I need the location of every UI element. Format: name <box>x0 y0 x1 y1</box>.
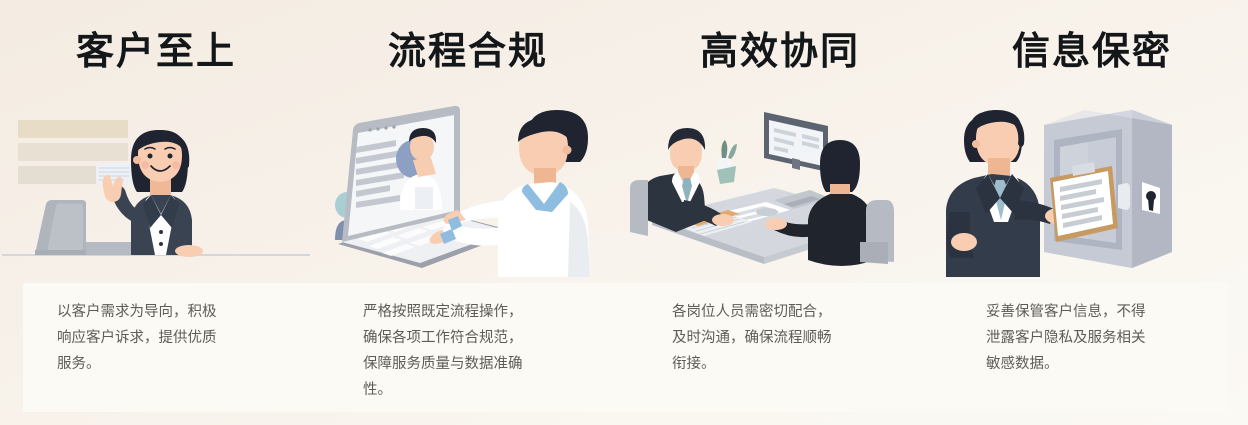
column-description: 各岗位人员需密切配合， 及时沟通，确保流程顺畅 衔接。 <box>624 299 917 377</box>
value-column-information-confidentiality: 信息保密 <box>936 0 1248 425</box>
woman-waving-at-laptop-illustration <box>0 92 312 277</box>
column-description: 妥善保管客户信息，不得 泄露客户隐私及服务相关 敏感数据。 <box>936 299 1226 377</box>
two-colleagues-meeting-at-desk-illustration <box>624 92 936 277</box>
value-column-efficient-collaboration: 高效协同 <box>624 0 936 425</box>
man-video-call-on-laptop-illustration <box>312 92 624 277</box>
value-column-process-compliance: 流程合规 <box>312 0 624 425</box>
column-description: 以客户需求为导向，积极 响应客户诉求，提供优质 服务。 <box>0 299 287 377</box>
man-with-clipboard-at-safe-cabinet-illustration <box>936 92 1248 277</box>
column-title: 高效协同 <box>624 30 936 74</box>
column-title: 客户至上 <box>0 30 312 74</box>
value-columns: 客户至上 <box>0 0 1248 425</box>
column-description: 严格按照既定流程操作， 确保各项工作符合规范， 保障服务质量与数据准确 性。 <box>312 299 603 403</box>
column-title: 信息保密 <box>936 30 1248 74</box>
values-banner: 客户至上 <box>0 0 1248 425</box>
column-title: 流程合规 <box>312 30 624 74</box>
value-column-customer-first: 客户至上 <box>0 0 312 425</box>
